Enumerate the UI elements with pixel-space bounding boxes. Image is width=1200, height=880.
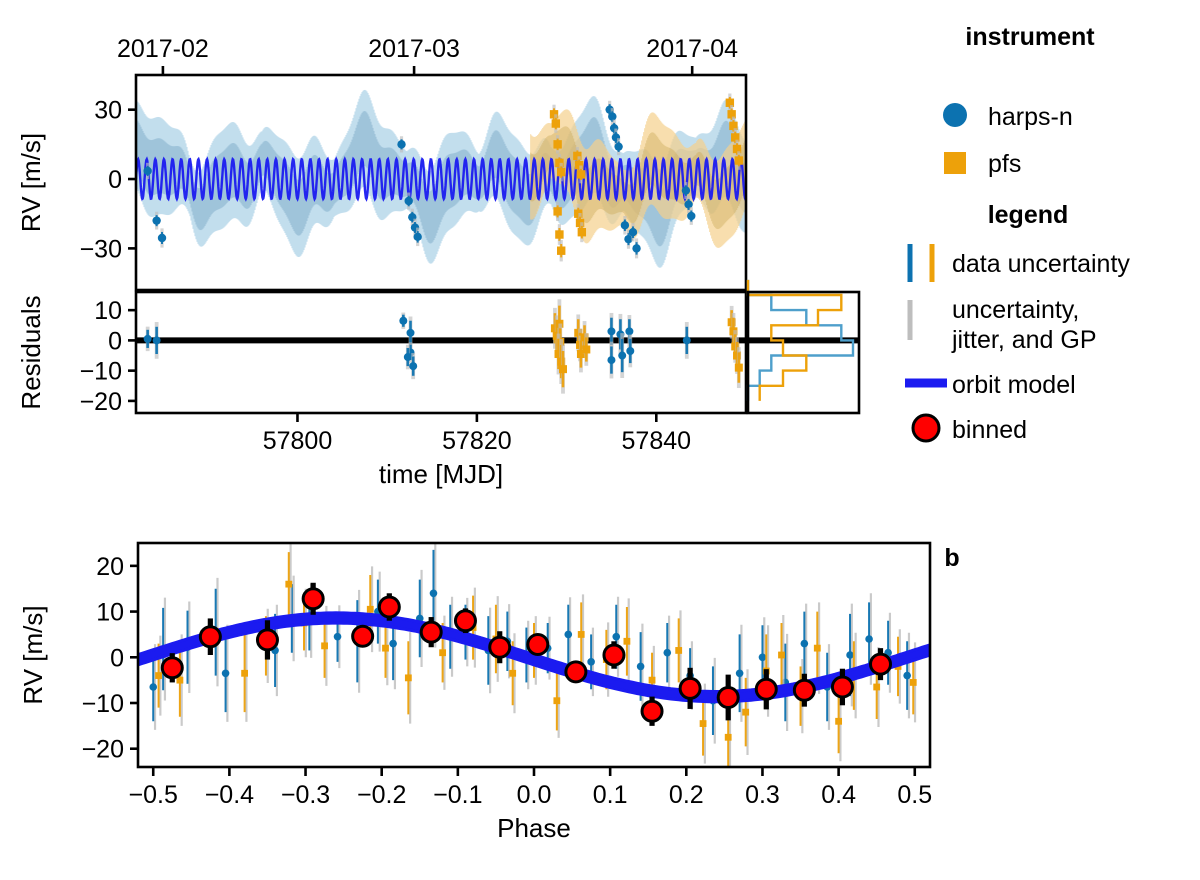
data-point-circle — [405, 197, 413, 205]
data-point-circle — [625, 327, 633, 335]
ts-inner — [136, 90, 746, 268]
legend-harps-n-marker — [943, 103, 967, 127]
data-point-square — [725, 734, 732, 741]
legend-area: instrumentharps-npfslegenddata uncertain… — [905, 23, 1130, 444]
data-point-circle — [153, 336, 161, 344]
data-point-circle — [587, 658, 595, 666]
y-tick-label: 0 — [108, 166, 122, 194]
y-tick-label: −20 — [82, 736, 124, 764]
data-point-circle — [865, 635, 873, 643]
data-point-circle — [621, 221, 629, 229]
data-point-circle — [158, 234, 166, 242]
binned-point — [257, 630, 277, 650]
x-tick-label: −0.5 — [129, 781, 178, 809]
data-point-square — [285, 581, 292, 588]
data-point-square — [835, 718, 842, 725]
residuals-frame — [136, 292, 746, 413]
figure-root: 300−302017-022017-032017-04RV [m/s]100−1… — [0, 0, 1200, 880]
binned-point — [455, 611, 475, 631]
x-tick-label: 57820 — [442, 427, 512, 455]
data-point-circle — [632, 244, 640, 252]
data-point-square — [910, 679, 917, 686]
data-point-square — [382, 645, 389, 652]
data-point-circle — [607, 356, 615, 364]
x-tick-label: 0.3 — [745, 781, 780, 809]
data-point-circle — [626, 347, 634, 355]
data-point-square — [700, 720, 707, 727]
data-point-circle — [903, 672, 911, 680]
residuals-harps-n-points — [144, 313, 691, 380]
binned-point — [604, 645, 624, 665]
x-tick-label: −0.1 — [433, 781, 482, 809]
date-tick-label: 2017-04 — [646, 35, 738, 63]
y-tick-label: −10 — [82, 690, 124, 718]
data-point-square — [742, 709, 749, 716]
data-point-square — [582, 345, 590, 353]
data-point-circle — [846, 651, 854, 659]
data-point-square — [439, 649, 446, 656]
rv-timeseries-panel: 300−302017-022017-032017-04RV [m/s] — [16, 35, 746, 290]
data-point-square — [675, 647, 682, 654]
binned-point — [642, 701, 662, 721]
binned-point — [528, 634, 548, 654]
data-point-square — [321, 642, 328, 649]
phase-xlabel: Phase — [497, 813, 571, 843]
y-tick-label: 10 — [94, 297, 122, 325]
binned-point — [490, 637, 510, 657]
binned-point — [303, 589, 323, 609]
legend-pfs-marker — [944, 152, 966, 174]
data-point-circle — [152, 216, 160, 224]
residual-histogram-panel — [748, 280, 859, 413]
x-tick-label: −0.3 — [281, 781, 330, 809]
legend-binned-marker — [913, 415, 939, 441]
data-point-square — [578, 228, 586, 236]
data-point-square — [735, 156, 743, 164]
x-tick-label: 0.0 — [517, 781, 552, 809]
legend-pfs-label: pfs — [988, 150, 1021, 178]
data-point-square — [405, 674, 412, 681]
data-point-circle — [389, 640, 397, 648]
x-tick-label: −0.4 — [205, 781, 254, 809]
x-tick-label: 57800 — [263, 427, 333, 455]
data-point-circle — [413, 233, 421, 241]
data-point-circle — [612, 633, 620, 641]
data-point-circle — [663, 649, 671, 657]
data-point-square — [649, 677, 656, 684]
binned-point — [718, 688, 738, 708]
x-tick-label: −0.2 — [357, 781, 406, 809]
data-point-square — [553, 697, 560, 704]
rv-figure: 300−302017-022017-032017-04RV [m/s]100−1… — [0, 0, 1200, 880]
residuals-panel: 100−10−20578005782057840Residualstime [M… — [16, 292, 746, 489]
y-tick-label: 10 — [96, 599, 124, 627]
data-point-circle — [399, 317, 407, 325]
legend-title: legend — [988, 201, 1069, 229]
data-point-square — [555, 230, 563, 238]
y-tick-label: 20 — [96, 553, 124, 581]
phase-folded-panel: 20100−10−20−0.5−0.4−0.3−0.2−0.10.00.10.2… — [18, 539, 960, 843]
data-point-circle — [736, 669, 744, 677]
phase-inner — [138, 539, 930, 774]
data-point-circle — [801, 640, 809, 648]
data-point-circle — [564, 631, 572, 639]
time-xlabel: time [MJD] — [379, 459, 503, 489]
y-tick-label: 0 — [108, 327, 122, 355]
data-point-circle — [430, 589, 438, 597]
data-point-square — [241, 670, 248, 677]
data-point-circle — [149, 683, 157, 691]
data-point-circle — [629, 228, 637, 236]
data-point-circle — [397, 140, 405, 148]
data-point-square — [559, 365, 567, 373]
x-tick-label: 0.1 — [593, 781, 628, 809]
residuals-pfs-points — [551, 299, 743, 393]
x-tick-label: 0.5 — [897, 781, 932, 809]
data-point-square — [873, 684, 880, 691]
data-point-square — [367, 606, 374, 613]
data-point-circle — [607, 327, 615, 335]
date-tick-label: 2017-02 — [117, 35, 209, 63]
y-tick-label: 30 — [94, 97, 122, 125]
binned-point — [756, 679, 776, 699]
data-point-square — [553, 207, 561, 215]
legend-harps-n-label: harps-n — [988, 103, 1073, 131]
binned-point — [162, 658, 182, 678]
legend-jitter-label-line2: jitter, and GP — [951, 326, 1097, 354]
rv-ylabel: RV [m/s] — [16, 133, 46, 232]
residuals-ylabel: Residuals — [16, 295, 46, 409]
binned-point — [353, 626, 373, 646]
data-point-square — [553, 140, 561, 148]
legend-binned-label: binned — [952, 416, 1027, 444]
planet-label-b: b — [944, 544, 959, 572]
data-point-square — [577, 170, 585, 178]
data-point-square — [557, 168, 565, 176]
data-point-square — [155, 672, 162, 679]
binned-point — [832, 677, 852, 697]
data-point-circle — [618, 352, 626, 360]
data-point-circle — [407, 329, 415, 337]
date-tick-label: 2017-03 — [368, 35, 460, 63]
data-point-square — [778, 652, 785, 659]
y-tick-label: −30 — [80, 235, 122, 263]
data-point-circle — [222, 669, 230, 677]
data-point-circle — [687, 212, 695, 220]
y-tick-label: 0 — [110, 644, 124, 672]
x-tick-label: 0.4 — [821, 781, 856, 809]
data-point-circle — [683, 336, 691, 344]
x-tick-label: 0.2 — [669, 781, 704, 809]
binned-point — [680, 678, 700, 698]
data-point-circle — [682, 186, 690, 194]
data-point-circle — [759, 653, 767, 661]
y-tick-label: −10 — [80, 358, 122, 386]
data-point-circle — [334, 633, 342, 641]
data-point-square — [578, 631, 585, 638]
binned-point — [794, 680, 814, 700]
binned-point — [379, 597, 399, 617]
data-point-square — [557, 246, 565, 254]
phase-ylabel: RV [m/s] — [18, 605, 48, 704]
binned-point — [566, 662, 586, 682]
data-point-square — [814, 645, 821, 652]
legend-data-uncertainty-label: data uncertainty — [952, 250, 1130, 278]
data-point-circle — [404, 353, 412, 361]
binned-point — [200, 627, 220, 647]
legend-instrument-title: instrument — [965, 23, 1095, 51]
data-point-square — [509, 670, 516, 677]
data-point-square — [552, 119, 560, 127]
data-point-circle — [608, 112, 616, 120]
data-point-square — [735, 364, 743, 372]
legend-orbit-model-label: orbit model — [952, 371, 1076, 399]
legend-jitter-label-line1: uncertainty, — [952, 296, 1079, 324]
residuals-inner — [136, 299, 746, 393]
data-point-circle — [409, 362, 417, 370]
x-tick-label: 57840 — [622, 427, 692, 455]
data-point-circle — [143, 167, 151, 175]
y-tick-label: −20 — [80, 388, 122, 416]
binned-point — [871, 654, 891, 674]
data-point-square — [624, 638, 631, 645]
data-point-circle — [144, 335, 152, 343]
data-point-circle — [614, 142, 622, 150]
data-point-circle — [637, 663, 645, 671]
binned-point — [421, 622, 441, 642]
